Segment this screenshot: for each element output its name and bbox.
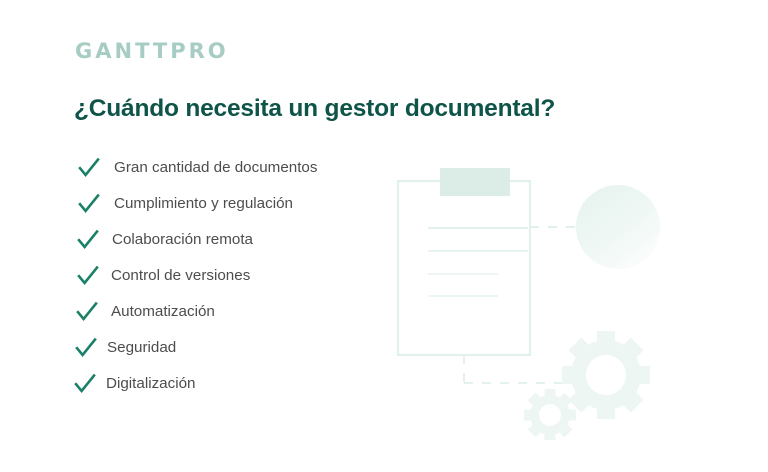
list-item-label: Digitalización xyxy=(106,376,195,391)
list-item-label: Cumplimiento y regulación xyxy=(114,196,293,211)
slide-canvas: GANTTPRO ¿Cuándo necesita un gestor docu… xyxy=(0,0,768,472)
page-title: ¿Cuándo necesita un gestor documental? xyxy=(74,96,555,123)
list-item-label: Gran cantidad de documentos xyxy=(114,160,317,175)
check-icon xyxy=(72,371,98,397)
list-item: Control de versiones xyxy=(70,258,400,294)
check-icon xyxy=(76,191,102,217)
check-icon xyxy=(76,155,102,181)
list-item: Automatización xyxy=(70,294,400,330)
clipboard-clip-icon xyxy=(440,168,510,196)
list-item: Colaboración remota xyxy=(70,222,400,258)
list-item-label: Automatización xyxy=(111,304,215,319)
gear-large-icon xyxy=(562,331,650,419)
list-item: Digitalización xyxy=(70,366,400,402)
list-item: Cumplimiento y regulación xyxy=(70,186,400,222)
list-item-label: Colaboración remota xyxy=(112,232,253,247)
ganttpro-logo: GANTTPRO xyxy=(75,41,229,62)
list-item-label: Seguridad xyxy=(107,340,176,355)
document-management-illustration xyxy=(380,150,680,440)
list-item-label: Control de versiones xyxy=(111,268,250,283)
benefits-checklist: Gran cantidad de documentos Cumplimiento… xyxy=(70,150,400,402)
circle-node-icon xyxy=(576,185,660,269)
check-icon xyxy=(75,263,101,289)
gear-small-icon xyxy=(524,389,576,440)
document-page-icon xyxy=(398,181,530,355)
list-item: Seguridad xyxy=(70,330,400,366)
check-icon xyxy=(74,299,100,325)
check-icon xyxy=(73,335,99,361)
check-icon xyxy=(75,227,101,253)
list-item: Gran cantidad de documentos xyxy=(70,150,400,186)
